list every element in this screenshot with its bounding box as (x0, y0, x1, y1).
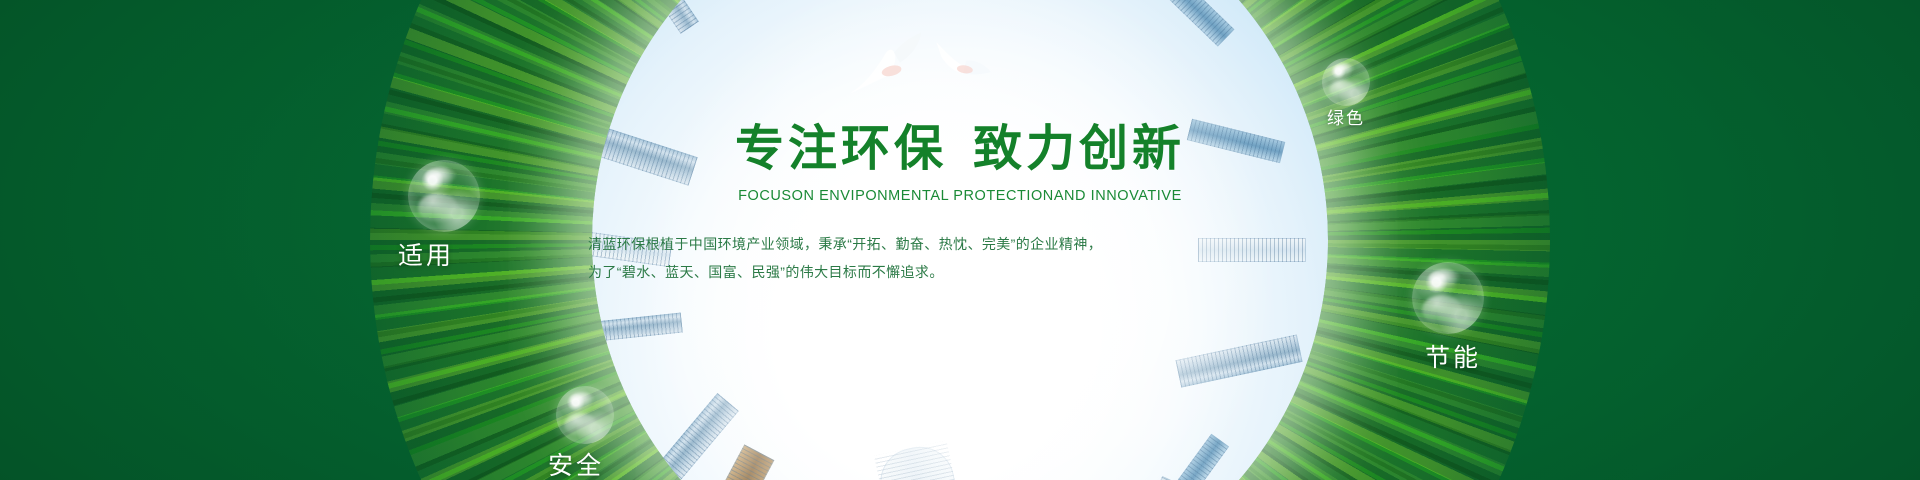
description-line-2: 为了“碧水、蓝天、国富、民强”的伟大目标而不懈追求。 (588, 258, 1340, 286)
headline-part-2: 致力创新 (973, 122, 1185, 176)
page-subtitle: FOCUSON ENVIPONMENTAL PROTECTIONAND INNO… (580, 188, 1340, 204)
description-line-1: 清蓝环保根植于中国环境产业领域，秉承“开拓、勤奋、热忱、完美”的企业精神， (588, 230, 1340, 258)
hero-copy: 专注环保致力创新 FOCUSON ENVIPONMENTAL PROTECTIO… (580, 122, 1340, 286)
bubble-icon (1322, 58, 1370, 106)
headline-part-1: 专注环保 (735, 122, 947, 176)
hero-description: 清蓝环保根植于中国环境产业领域，秉承“开拓、勤奋、热忱、完美”的企业精神， 为了… (580, 230, 1340, 286)
bubble-label-jieneng: 节能 (1425, 338, 1481, 374)
page-title: 专注环保致力创新 (580, 122, 1340, 177)
seagull-icon (927, 36, 998, 87)
eco-hero-banner: 适用 安全 绿色 节能 专注环保致力创新 FOCUSON ENVIPONMENT… (0, 0, 1920, 480)
bubble-icon (1412, 262, 1484, 334)
bubble-label-shiyong: 适用 (398, 236, 454, 272)
bubble-label-anquan: 安全 (548, 446, 604, 480)
bubble-icon (556, 386, 614, 444)
bubble-icon (408, 160, 480, 232)
